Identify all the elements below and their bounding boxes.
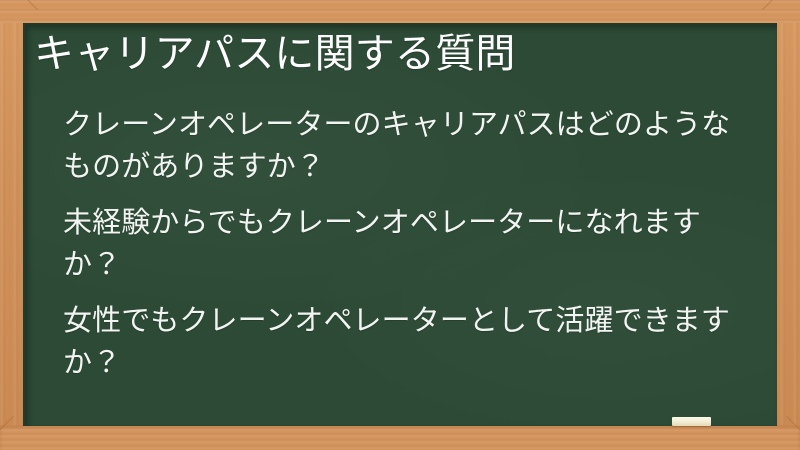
frame-top-rail <box>0 0 800 23</box>
chalk-stick-icon <box>672 417 711 426</box>
question-item: 未経験からでもクレーンオペレーターになれますか？ <box>63 201 751 285</box>
question-list: クレーンオペレーターのキャリアパスはどのようなものがありますか？ 未経験からでも… <box>63 103 751 383</box>
frame-bottom-ledge <box>0 425 800 450</box>
question-item: 女性でもクレーンオペレーターとして活躍できますか？ <box>63 299 751 383</box>
chalkboard-surface: キャリアパスに関する質問 クレーンオペレーターのキャリアパスはどのようなものがあ… <box>23 23 777 426</box>
slide-title: キャリアパスに関する質問 <box>34 31 763 78</box>
question-item: クレーンオペレーターのキャリアパスはどのようなものがありますか？ <box>63 103 751 187</box>
chalkboard-slide: キャリアパスに関する質問 クレーンオペレーターのキャリアパスはどのようなものがあ… <box>0 0 800 450</box>
